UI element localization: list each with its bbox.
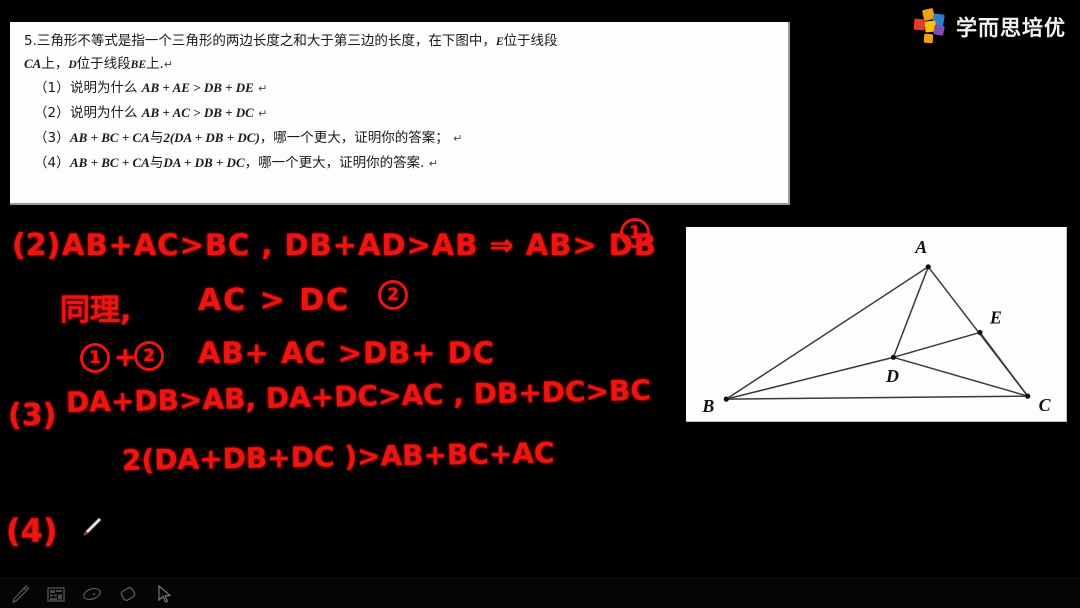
item-math: AB + BC + CA <box>70 130 150 145</box>
stem-math-d: D <box>68 59 76 71</box>
item-number: （1） <box>24 76 70 100</box>
pen-tool-icon[interactable] <box>8 583 32 605</box>
figure-vertices <box>724 264 1031 401</box>
item-number: （4） <box>24 151 70 175</box>
vertex-E <box>977 330 982 335</box>
item-number: （2） <box>24 101 70 125</box>
item-prefix: 说明为什么 <box>70 80 138 96</box>
item-mid: 与 <box>150 155 164 171</box>
item-body: AB + BC + CA与2(DA + DB + DC)，哪一个更大，证明你的答… <box>70 126 462 151</box>
pilcrow-icon: ↵ <box>258 107 267 120</box>
ink-circled-1-b: 1 <box>80 343 110 373</box>
ink-item-3-conclusion: 2(DA+DB+DC )>AB+BC+AC <box>122 436 555 477</box>
vertex-A <box>926 264 931 269</box>
question-item-2: （2） 说明为什么 AB + AC > DB + DC ↵ <box>24 101 776 126</box>
figure-label-B: B <box>701 396 714 416</box>
vertex-D <box>891 355 896 360</box>
ink-item-2-body: AB+AC>BC , DB+AD>AB ⇒ AB> DB <box>62 228 657 262</box>
item-body: AB + BC + CA与DA + DB + DC，哪一个更大，证明你的答案. … <box>70 151 438 176</box>
segment-AD <box>893 267 928 358</box>
question-item-3: （3） AB + BC + CA与2(DA + DB + DC)，哪一个更大，证… <box>24 126 776 151</box>
item-prefix: 说明为什么 <box>70 105 138 121</box>
item-suffix: ，哪一个更大，证明你的答案； <box>260 130 449 146</box>
puzzle-piece-logo-icon <box>914 9 948 45</box>
select-tool-icon[interactable] <box>152 583 176 605</box>
pen-cursor-icon <box>80 516 102 538</box>
geometry-figure-panel: A B C D E <box>686 227 1067 422</box>
stem-math-e: E <box>496 36 504 48</box>
item-math: AB + BC + CA <box>70 155 150 170</box>
stem-math-ca: CA <box>24 56 41 71</box>
pilcrow-icon: ↵ <box>453 132 462 145</box>
segment-BD <box>726 357 893 399</box>
figure-label-D: D <box>885 366 899 386</box>
ink-plus-sign: + <box>114 342 137 373</box>
ink-circled-2-a: 2 <box>378 280 408 310</box>
keyboard-tool-icon[interactable] <box>44 583 68 605</box>
segment-BC <box>726 396 1027 399</box>
pilcrow-icon: ↵ <box>429 157 438 170</box>
lasso-tool-icon[interactable] <box>80 583 104 605</box>
item-number: （3） <box>24 126 70 150</box>
stem-text-d: 位于线段 <box>77 56 131 72</box>
eraser-tool-icon[interactable] <box>116 583 140 605</box>
ink-sum-inequality: AB+ AC >DB+ DC <box>198 336 495 370</box>
brand-logo: 学而思培优 <box>914 9 1066 45</box>
figure-label-A: A <box>914 237 927 257</box>
stem-text-a: 5.三角形不等式是指一个三角形的两边长度之和大于第三边的长度，在下图中， <box>24 33 496 49</box>
pilcrow-icon: ↵ <box>164 58 173 71</box>
item-suffix: ，哪一个更大，证明你的答案. <box>245 155 425 171</box>
question-item-1: （1） 说明为什么 AB + AE > DB + DE ↵ <box>24 76 776 101</box>
bottom-toolbar[interactable] <box>0 578 1080 608</box>
stem-math-be: BE <box>131 59 146 71</box>
question-stem-line-1: 5.三角形不等式是指一个三角形的两边长度之和大于第三边的长度，在下图中，E位于线… <box>24 30 776 53</box>
item-math: AB + AC > DB + DC <box>142 105 254 120</box>
ink-item-3-label: (3) <box>8 398 56 433</box>
brand-logo-text: 学而思培优 <box>956 12 1066 42</box>
vertex-C <box>1025 394 1030 399</box>
item-math2: 2(DA + DB + DC) <box>163 130 259 145</box>
pilcrow-icon: ↵ <box>258 82 267 95</box>
item-mid: 与 <box>150 130 164 146</box>
segment-DE <box>893 332 980 357</box>
vertex-B <box>724 397 729 402</box>
ink-tongli-text: 同理, <box>60 285 131 329</box>
ink-ac-gt-dc: AC > DC <box>198 283 350 318</box>
segment-EC <box>980 332 1028 396</box>
stem-text-c: 上， <box>41 56 68 72</box>
item-body: 说明为什么 AB + AE > DB + DE ↵ <box>70 76 267 101</box>
ink-circled-2-b: 2 <box>134 341 164 371</box>
question-item-4: （4） AB + BC + CA与DA + DB + DC，哪一个更大，证明你的… <box>24 151 776 176</box>
geometry-figure-svg: A B C D E <box>686 227 1066 421</box>
figure-label-C: C <box>1039 395 1052 415</box>
stem-text-b: 位于线段 <box>504 33 558 49</box>
ink-item-4-label: (4) <box>6 512 58 550</box>
item-body: 说明为什么 AB + AC > DB + DC ↵ <box>70 101 267 126</box>
segment-DC <box>893 357 1027 396</box>
figure-label-E: E <box>989 308 1002 328</box>
ink-circled-1-a: 1 <box>620 218 650 248</box>
item-math: AB + AE > DB + DE <box>142 80 254 95</box>
question-stem-line-2: CA上，D位于线段BE上.↵ <box>24 53 776 76</box>
stem-text-e: 上. <box>146 56 164 72</box>
question-document-panel: 5.三角形不等式是指一个三角形的两边长度之和大于第三边的长度，在下图中，E位于线… <box>10 22 790 205</box>
ink-item-3-body: DA+DB>AB, DA+DC>AC , DB+DC>BC <box>66 374 652 419</box>
item-math2: DA + DB + DC <box>163 155 244 170</box>
ink-item-2-label: (2) <box>12 228 60 263</box>
